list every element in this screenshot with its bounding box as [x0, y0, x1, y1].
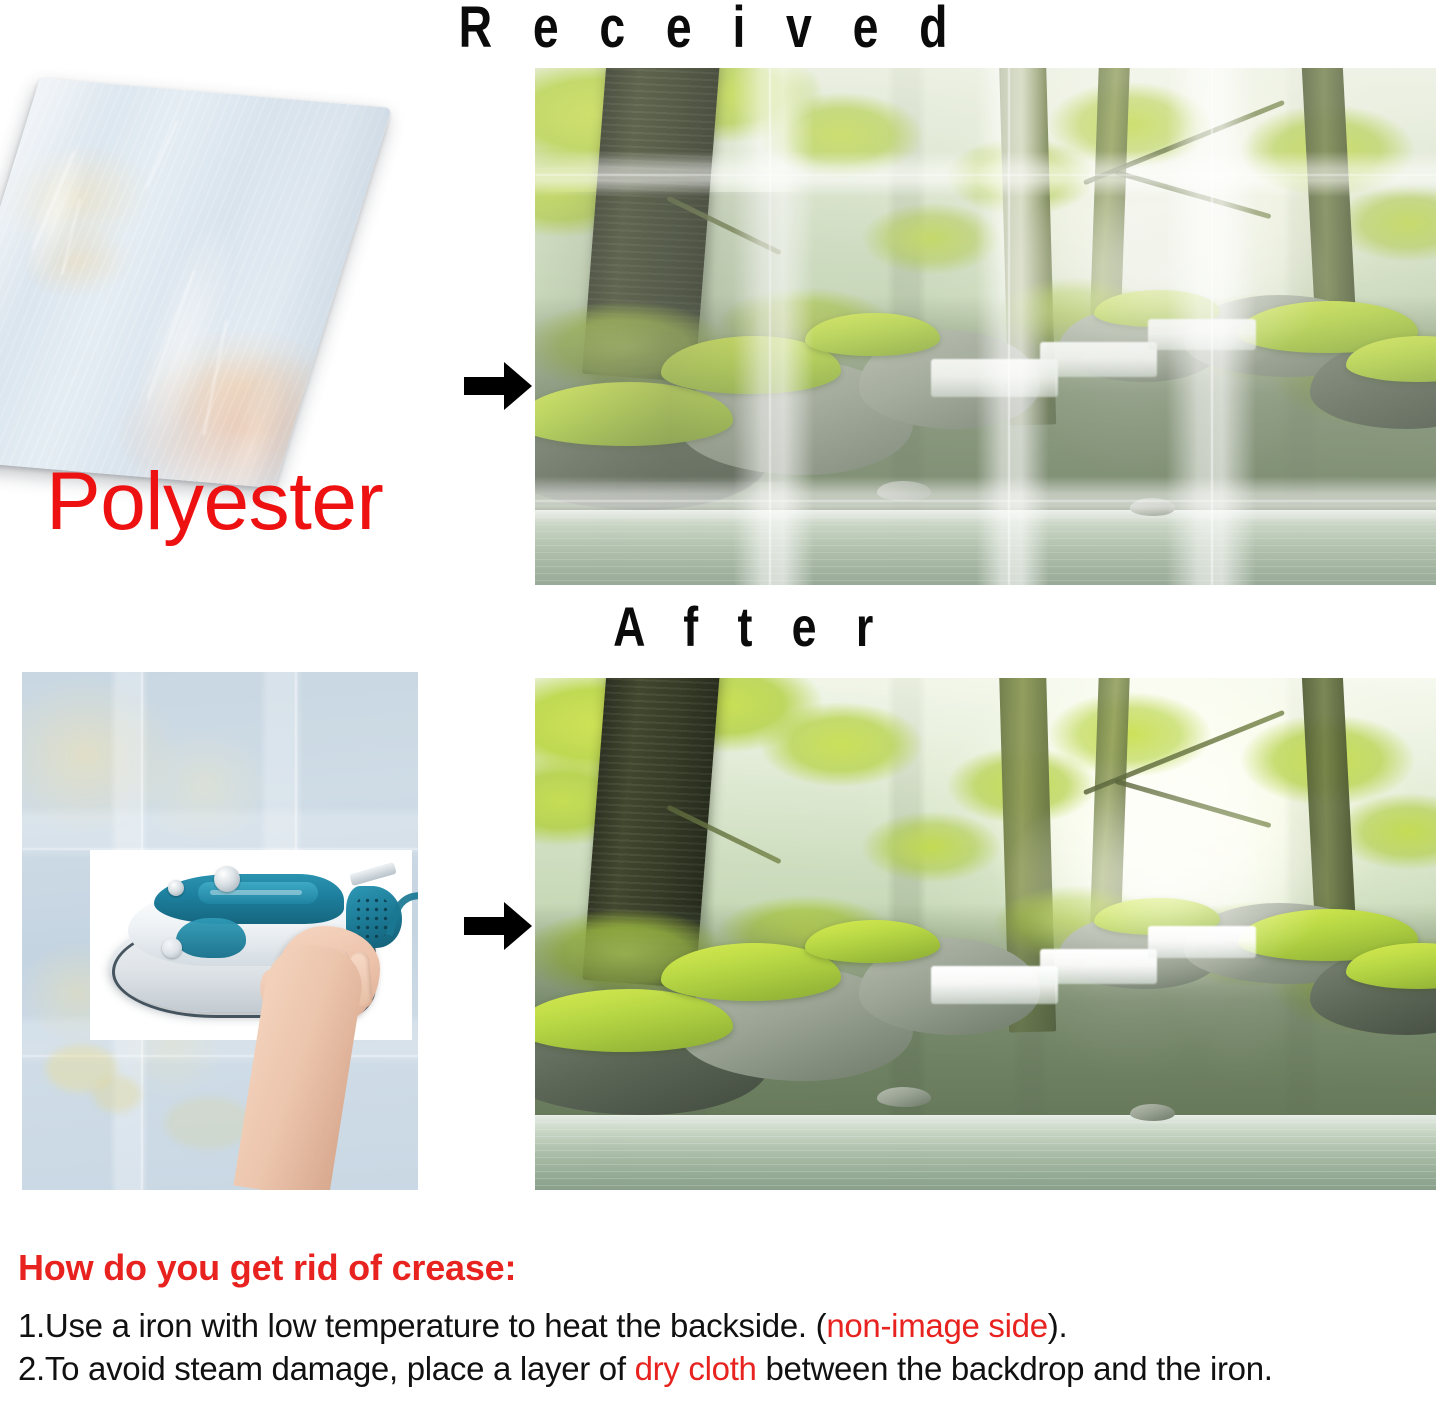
- care-instruction-line-1: 1.Use a iron with low temperature to hea…: [18, 1304, 1422, 1347]
- care-line-2-suffix: between the backdrop and the iron.: [757, 1350, 1273, 1387]
- ironing-demo-image: [22, 672, 418, 1190]
- infographic-canvas: R e c e i v e d Polyester: [0, 0, 1436, 1402]
- polyester-material-label: Polyester: [46, 458, 383, 546]
- care-instructions: How do you get rid of crease: 1.Use a ir…: [18, 1248, 1422, 1390]
- care-line-2-highlight: dry cloth: [635, 1350, 757, 1387]
- steam-iron-icon: [110, 860, 410, 1032]
- received-section-title: R e c e i v e d: [430, 0, 990, 60]
- care-instruction-line-2: 2.To avoid steam damage, place a layer o…: [18, 1347, 1422, 1390]
- care-instructions-heading: How do you get rid of crease:: [18, 1248, 1422, 1288]
- after-section-title: A f t e r: [526, 596, 974, 658]
- polyester-fabric-sheet: [0, 78, 392, 488]
- care-line-2-prefix: 2.To avoid steam damage, place a layer o…: [18, 1350, 635, 1387]
- care-line-1-highlight: non-image side: [826, 1307, 1047, 1344]
- right-arrow-icon-received: [462, 358, 534, 414]
- care-line-1-prefix: 1.Use a iron with low temperature to hea…: [18, 1307, 826, 1344]
- folded-fabric-image: [18, 78, 418, 488]
- after-backdrop-photo: [535, 678, 1436, 1190]
- right-arrow-icon-after: [462, 898, 534, 954]
- received-backdrop-photo: [535, 68, 1436, 585]
- care-line-1-suffix: ).: [1048, 1307, 1068, 1344]
